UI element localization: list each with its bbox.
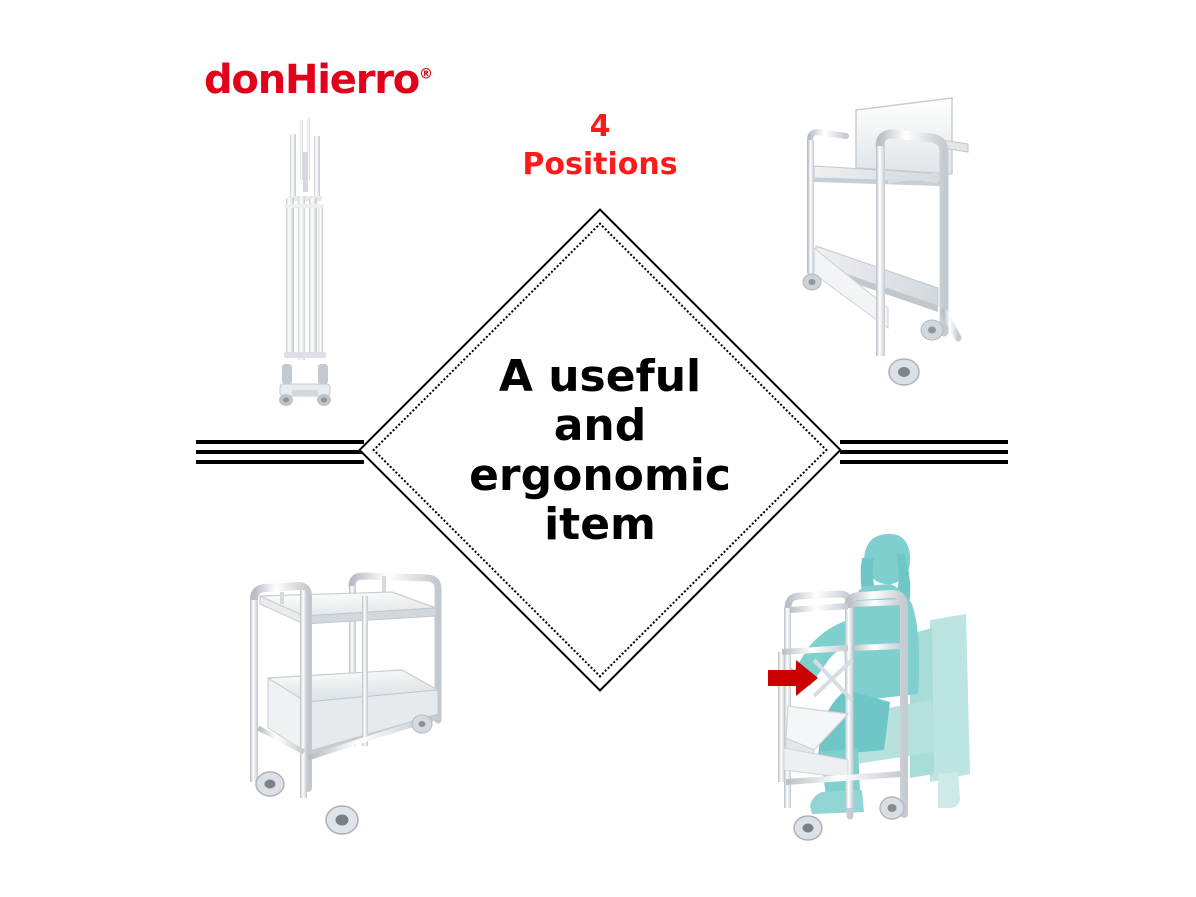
rule-line-1 — [840, 440, 1008, 444]
right-triple-rule — [840, 440, 1008, 466]
positions-label: Positions — [448, 146, 752, 184]
brand-logo: donHierro® — [204, 60, 433, 100]
center-headline: A useful and ergonomic item — [430, 352, 770, 549]
headline-line-2: and — [430, 401, 770, 450]
rule-line-2 — [196, 450, 364, 454]
positions-badge: 4 Positions — [448, 108, 752, 183]
brand-logo-text: donHierro — [204, 57, 419, 103]
slide-canvas: donHierro® 4 Positions A useful and ergo… — [0, 0, 1196, 897]
headline-line-4: item — [430, 500, 770, 549]
left-triple-rule — [196, 440, 364, 466]
headline-line-1: A useful — [430, 352, 770, 401]
rule-line-1 — [196, 440, 364, 444]
photo-cart-ergonomic-use — [752, 524, 990, 850]
rule-line-2 — [840, 450, 1008, 454]
photo-cart-semi-folded — [792, 82, 970, 400]
rule-line-3 — [196, 460, 364, 464]
rule-line-3 — [840, 460, 1008, 464]
photo-cart-fully-open — [232, 552, 448, 852]
headline-line-3: ergonomic — [430, 451, 770, 500]
positions-count: 4 — [448, 108, 752, 146]
photo-cart-folded-upright — [262, 112, 348, 418]
registered-trademark-icon: ® — [419, 67, 433, 83]
